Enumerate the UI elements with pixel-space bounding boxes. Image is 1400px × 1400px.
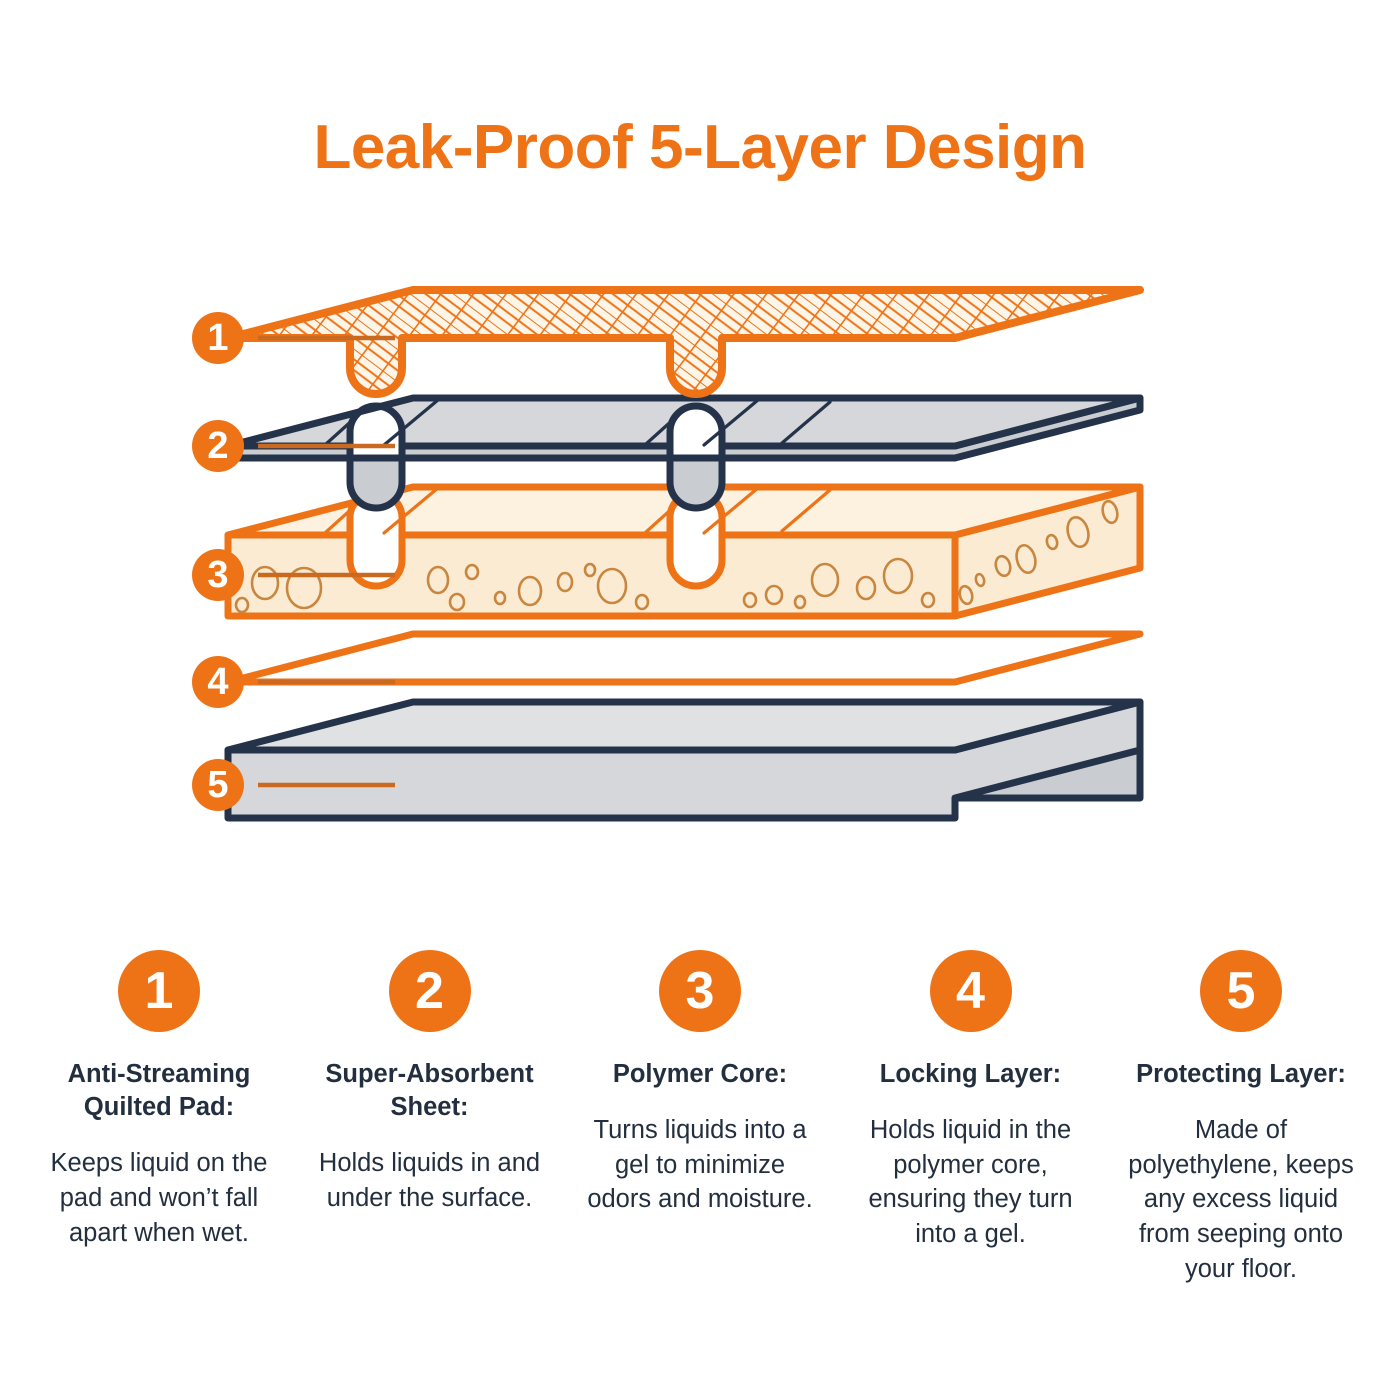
- callout-number-4: 4: [207, 661, 228, 703]
- layer-column-1: 1 Anti-Streaming Quilted Pad: Keeps liqu…: [30, 950, 288, 1250]
- column-body-3: Turns liquids into a gel to minimize odo…: [583, 1113, 818, 1217]
- layer-column-5: 5 Protecting Layer: Made of polyethylene…: [1112, 950, 1370, 1287]
- layer-description-columns: 1 Anti-Streaming Quilted Pad: Keeps liqu…: [30, 950, 1370, 1287]
- callout-badges: 1 2 3 4 5: [192, 312, 244, 811]
- column-body-4: Holds liquid in the polymer core, ensuri…: [853, 1113, 1088, 1252]
- column-heading-1: Anti-Streaming Quilted Pad:: [39, 1058, 279, 1124]
- layer-column-3: 3 Polymer Core: Turns liquids into a gel…: [571, 950, 829, 1217]
- column-heading-5: Protecting Layer:: [1136, 1058, 1346, 1091]
- column-badge-2: 2: [389, 950, 471, 1032]
- column-badge-3: 3: [659, 950, 741, 1032]
- infographic-page: Leak-Proof 5-Layer Design: [0, 0, 1400, 1400]
- layer-column-2: 2 Super-Absorbent Sheet: Holds liquids i…: [301, 950, 559, 1216]
- column-heading-4: Locking Layer:: [880, 1058, 1061, 1091]
- column-badge-4: 4: [930, 950, 1012, 1032]
- layer-column-4: 4 Locking Layer: Holds liquid in the pol…: [842, 950, 1100, 1252]
- callout-number-3: 3: [207, 554, 228, 596]
- callout-number-1: 1: [207, 317, 228, 359]
- column-body-2: Holds liquids in and under the surface.: [312, 1146, 547, 1215]
- callout-number-2: 2: [207, 425, 228, 467]
- column-heading-2: Super-Absorbent Sheet:: [310, 1058, 550, 1124]
- layer-diagram: 1 2 3 4 5: [180, 250, 1180, 890]
- column-body-5: Made of polyethylene, keeps any excess l…: [1124, 1113, 1359, 1286]
- layer-1-anti-streaming-quilted-pad: [228, 290, 1140, 394]
- column-body-1: Keeps liquid on the pad and won’t fall a…: [42, 1146, 277, 1250]
- column-badge-5: 5: [1200, 950, 1282, 1032]
- page-title: Leak-Proof 5-Layer Design: [0, 112, 1400, 183]
- layer-5-protecting-layer: [228, 702, 1140, 818]
- column-badge-1: 1: [118, 950, 200, 1032]
- callout-number-5: 5: [207, 764, 228, 806]
- layer-4-locking-layer: [228, 634, 1140, 682]
- column-heading-3: Polymer Core:: [613, 1058, 787, 1091]
